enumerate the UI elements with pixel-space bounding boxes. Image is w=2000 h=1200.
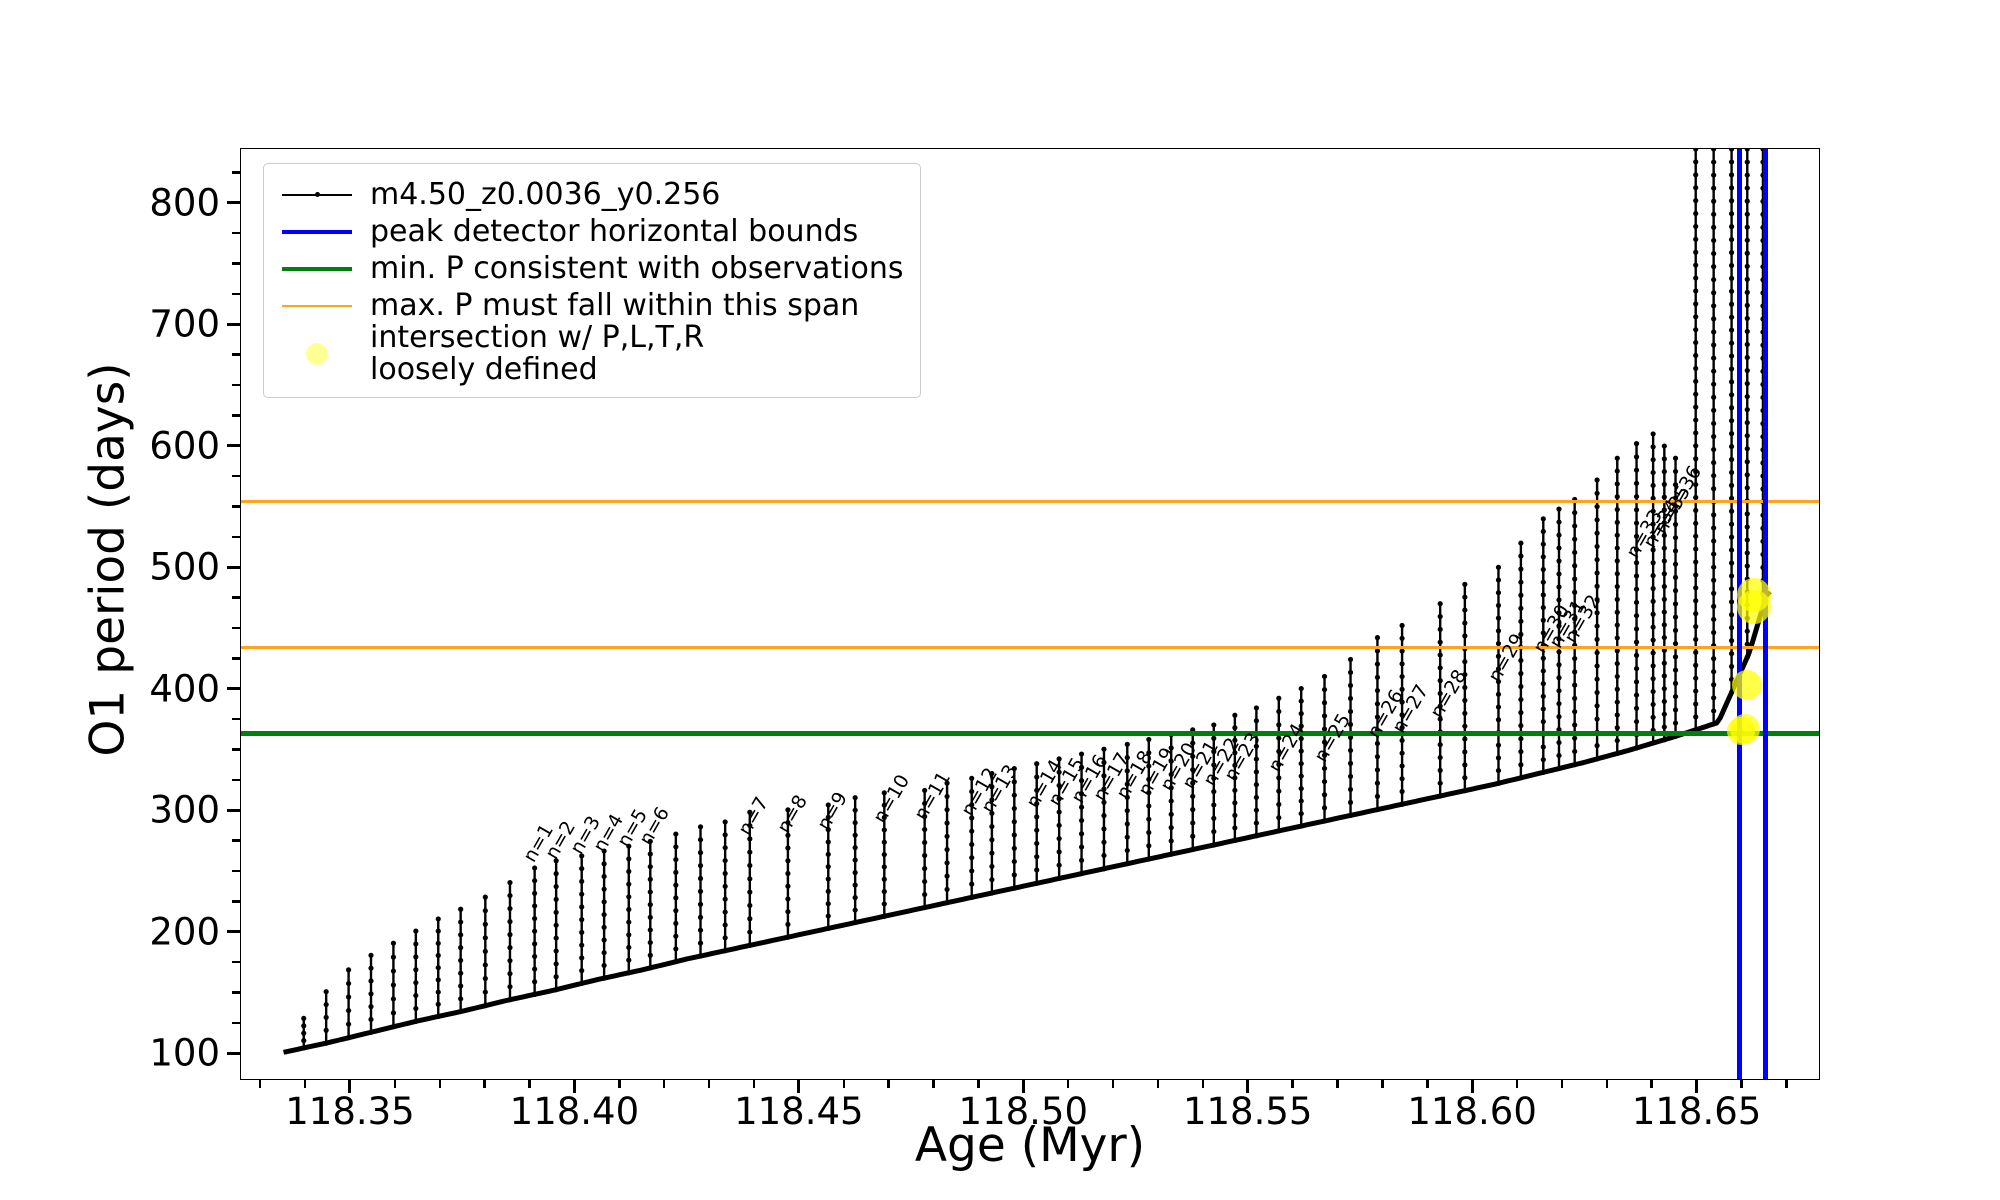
x-tick-minor — [304, 1080, 307, 1088]
x-tick-minor — [977, 1080, 980, 1088]
hline-min-period — [241, 731, 1819, 736]
plot-area: n=1n=2n=3n=4n=5n=6n=7n=8n=9n=10n=11n=12n… — [240, 148, 1820, 1080]
x-tick-minor — [1785, 1080, 1788, 1088]
legend-entry-5[interactable]: intersection w/ P,L,T,R loosely defined — [278, 324, 904, 384]
y-tick-major — [227, 323, 240, 326]
y-tick-label: 100 — [100, 1032, 220, 1075]
legend-entry-3[interactable]: min. P consistent with observations — [278, 250, 904, 287]
legend-entry-1[interactable]: m4.50_z0.0036_y0.256 — [278, 176, 904, 213]
legend-line-swatch — [282, 230, 352, 234]
y-tick-major — [227, 930, 240, 933]
y-tick-minor — [232, 1022, 240, 1025]
y-tick-minor — [232, 627, 240, 630]
y-tick-label: 700 — [100, 303, 220, 346]
x-tick-minor — [887, 1080, 890, 1088]
y-tick-minor — [232, 961, 240, 964]
x-tick-label: 118.40 — [454, 1090, 694, 1133]
x-tick-minor — [1157, 1080, 1160, 1088]
x-tick-label: 118.65 — [1577, 1090, 1817, 1133]
legend-label: m4.50_z0.0036_y0.256 — [370, 179, 720, 211]
legend-key-intersection — [278, 339, 356, 369]
x-tick-minor — [932, 1080, 935, 1088]
y-tick-label: 200 — [100, 910, 220, 953]
x-tick-minor — [439, 1080, 442, 1088]
y-tick-minor — [232, 293, 240, 296]
x-tick-label: 118.35 — [230, 1090, 470, 1133]
x-tick-minor — [483, 1080, 486, 1088]
x-tick-major — [348, 1080, 351, 1093]
y-axis-tick-labels: 100200300400500600700800 — [100, 148, 220, 1080]
legend-label: max. P must fall within this span — [370, 290, 859, 322]
legend-box[interactable]: m4.50_z0.0036_y0.256peak detector horizo… — [263, 163, 921, 398]
x-tick-label: 118.60 — [1352, 1090, 1592, 1133]
x-tick-label: 118.50 — [903, 1090, 1143, 1133]
legend-entry-4[interactable]: max. P must fall within this span — [278, 287, 904, 324]
x-axis-ticks — [240, 1080, 1820, 1094]
y-tick-label: 800 — [100, 181, 220, 224]
y-tick-minor — [232, 718, 240, 721]
legend-line-swatch — [282, 305, 352, 307]
y-tick-minor — [232, 657, 240, 660]
y-tick-major — [227, 566, 240, 569]
legend-entry-2[interactable]: peak detector horizontal bounds — [278, 213, 904, 250]
x-tick-minor — [1740, 1080, 1743, 1088]
x-tick-minor — [1336, 1080, 1339, 1088]
y-tick-label: 600 — [100, 424, 220, 467]
x-tick-minor — [1067, 1080, 1070, 1088]
x-tick-major — [573, 1080, 576, 1093]
y-tick-minor — [232, 748, 240, 751]
y-tick-minor — [232, 262, 240, 265]
x-tick-minor — [1291, 1080, 1294, 1088]
hline-max-span-lower — [241, 646, 1819, 649]
x-tick-minor — [753, 1080, 756, 1088]
legend-label: min. P consistent with observations — [370, 253, 904, 285]
x-tick-minor — [663, 1080, 666, 1088]
legend-line-swatch — [282, 267, 352, 271]
y-tick-major — [227, 809, 240, 812]
y-tick-minor — [232, 870, 240, 873]
x-tick-major — [1471, 1080, 1474, 1093]
y-tick-minor — [232, 900, 240, 903]
y-tick-minor — [232, 505, 240, 508]
y-tick-minor — [232, 384, 240, 387]
hline-max-span-upper — [241, 500, 1819, 503]
legend-key-peak-bounds — [278, 217, 356, 247]
y-tick-minor — [232, 171, 240, 174]
x-tick-minor — [843, 1080, 846, 1088]
x-tick-minor — [1561, 1080, 1564, 1088]
y-tick-minor — [232, 779, 240, 782]
intersection-marker-3 — [1732, 670, 1762, 700]
y-tick-major — [227, 1052, 240, 1055]
x-tick-minor — [1516, 1080, 1519, 1088]
legend-marker-dot-icon — [315, 192, 320, 197]
y-tick-major — [227, 201, 240, 204]
x-tick-major — [1022, 1080, 1025, 1093]
figure-canvas: O1 period (days) Age (Myr) 1002003004005… — [0, 0, 2000, 1200]
x-tick-minor — [1202, 1080, 1205, 1088]
y-tick-minor — [232, 353, 240, 356]
y-tick-minor — [232, 991, 240, 994]
y-tick-minor — [232, 414, 240, 417]
x-tick-minor — [1381, 1080, 1384, 1088]
y-tick-label: 400 — [100, 667, 220, 710]
y-tick-label: 500 — [100, 546, 220, 589]
y-tick-minor — [232, 839, 240, 842]
y-tick-minor — [232, 232, 240, 235]
x-tick-minor — [618, 1080, 621, 1088]
x-tick-minor — [1650, 1080, 1653, 1088]
y-tick-major — [227, 687, 240, 690]
legend-key-model-series — [278, 180, 356, 210]
x-tick-minor — [259, 1080, 262, 1088]
legend-key-max-span — [278, 291, 356, 321]
x-tick-major — [797, 1080, 800, 1093]
legend-label: peak detector horizontal bounds — [370, 216, 858, 248]
y-tick-minor — [232, 596, 240, 599]
x-tick-minor — [708, 1080, 711, 1088]
x-tick-minor — [528, 1080, 531, 1088]
y-tick-major — [227, 444, 240, 447]
x-tick-label: 118.45 — [679, 1090, 919, 1133]
x-tick-major — [1246, 1080, 1249, 1093]
x-tick-minor — [1112, 1080, 1115, 1088]
legend-marker-blob-icon — [306, 343, 328, 365]
intersection-marker-5 — [1727, 717, 1755, 745]
y-tick-label: 300 — [100, 789, 220, 832]
legend-label: intersection w/ P,L,T,R loosely defined — [370, 322, 704, 386]
y-tick-minor — [232, 475, 240, 478]
x-tick-minor — [1606, 1080, 1609, 1088]
x-tick-minor — [1426, 1080, 1429, 1088]
x-tick-label: 118.55 — [1128, 1090, 1368, 1133]
x-tick-major — [1695, 1080, 1698, 1093]
y-tick-minor — [232, 536, 240, 539]
legend-key-min-period — [278, 254, 356, 284]
x-tick-minor — [394, 1080, 397, 1088]
